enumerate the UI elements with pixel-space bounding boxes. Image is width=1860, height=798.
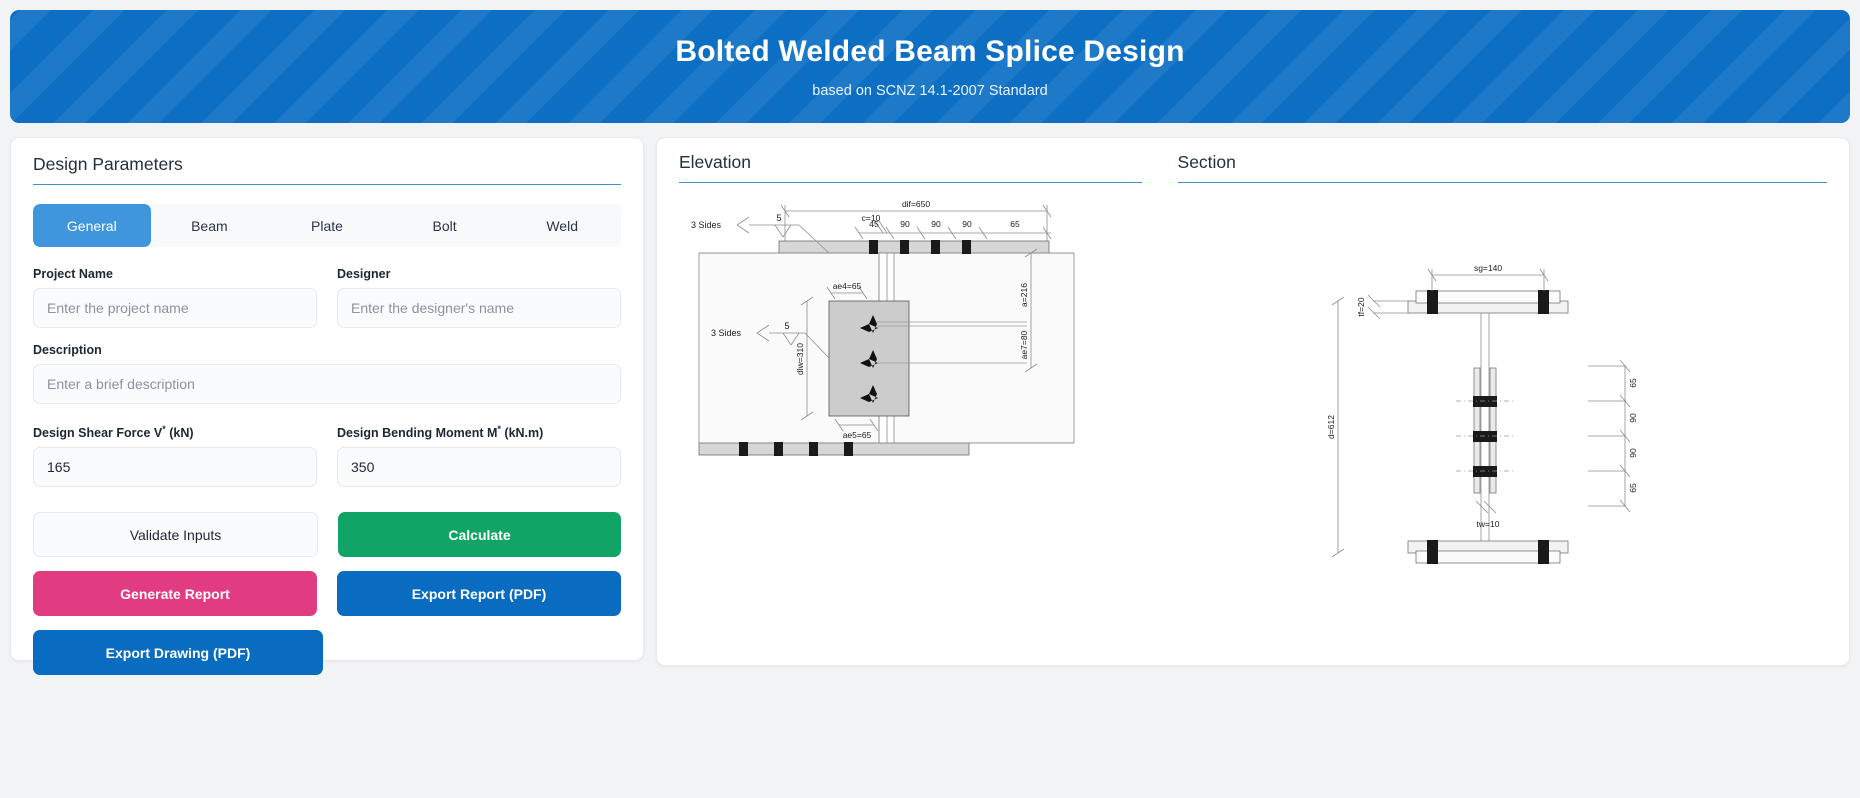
dim-ae4-label: ae4=65 <box>833 281 862 291</box>
dim-web-chain-4: 65 <box>1628 483 1638 493</box>
tab-general[interactable]: General <box>33 204 151 247</box>
validate-inputs-button[interactable]: Validate Inputs <box>33 512 318 557</box>
weld-mid-size-label: 5 <box>784 321 789 331</box>
dim-web-chain-1: 65 <box>1628 378 1638 388</box>
dim-web-chain-3: 90 <box>1628 448 1638 458</box>
app-root: Bolted Welded Beam Splice Design based o… <box>0 0 1860 798</box>
button-row-spacer <box>343 630 621 675</box>
primary-action-row: Validate Inputs Calculate <box>33 512 621 557</box>
generate-report-button[interactable]: Generate Report <box>33 571 317 616</box>
dim-pitch-5: 65 <box>1010 219 1020 229</box>
export-drawing-row: Export Drawing (PDF) <box>33 630 621 675</box>
designer-input[interactable] <box>337 288 621 328</box>
elevation-drawing: dif=650 c=10 <box>679 183 1119 603</box>
bending-moment-group: Design Bending Moment M* (kN.m) <box>337 424 621 487</box>
design-parameters-panel: Design Parameters General Beam Plate Bol… <box>10 137 644 661</box>
bending-moment-input[interactable] <box>337 447 621 487</box>
dim-dlw-label: dlw=310 <box>795 343 805 375</box>
elevation-title: Elevation <box>679 152 1142 182</box>
tab-bolt[interactable]: Bolt <box>386 204 504 247</box>
drawings-panel: Elevation <box>656 137 1850 666</box>
project-name-input[interactable] <box>33 288 317 328</box>
loads-row: Design Shear Force V* (kN) Design Bendin… <box>33 424 621 487</box>
shear-force-group: Design Shear Force V* (kN) <box>33 424 317 487</box>
bending-moment-label: Design Bending Moment M* (kN.m) <box>337 424 621 440</box>
project-designer-row: Project Name Designer <box>33 267 621 328</box>
page-subtitle: based on SCNZ 14.1-2007 Standard <box>812 83 1047 99</box>
dim-a-label: a=216 <box>1019 283 1029 307</box>
dim-pitch-3: 90 <box>931 219 941 229</box>
export-drawing-button[interactable]: Export Drawing (PDF) <box>33 630 323 675</box>
elevation-canvas: dif=650 c=10 <box>679 183 1142 613</box>
dim-sg-label: sg=140 <box>1473 263 1501 273</box>
weld-top-size-label: 5 <box>776 213 781 223</box>
project-name-group: Project Name <box>33 267 317 328</box>
dim-pitch-2: 90 <box>900 219 910 229</box>
dim-ae7-label: ae7=80 <box>1019 330 1029 359</box>
dim-ae5-label: ae5=65 <box>843 430 872 440</box>
section-drawing: sg=140 tf=20 <box>1178 183 1818 603</box>
elevation-view: Elevation <box>679 152 1142 613</box>
dim-pitch-4: 90 <box>962 219 972 229</box>
dim-dif-label: dif=650 <box>902 199 930 209</box>
tab-plate[interactable]: Plate <box>268 204 386 247</box>
section-canvas: sg=140 tf=20 <box>1178 183 1827 613</box>
weld-mid-sides-label: 3 Sides <box>711 328 742 338</box>
description-input[interactable] <box>33 364 621 404</box>
dim-tw-label: tw=10 <box>1476 519 1499 529</box>
section-view: Section <box>1178 152 1827 613</box>
title-divider <box>33 184 621 185</box>
description-label: Description <box>33 343 621 357</box>
tab-beam[interactable]: Beam <box>151 204 269 247</box>
weld-top-sides-label: 3 Sides <box>691 220 722 230</box>
dim-web-chain-2: 90 <box>1628 413 1638 423</box>
designer-group: Designer <box>337 267 621 328</box>
dim-pitch-1: 45 <box>869 219 879 229</box>
shear-force-label: Design Shear Force V* (kN) <box>33 424 317 440</box>
section-title: Section <box>1178 152 1827 182</box>
description-group: Description <box>33 343 621 404</box>
dim-d-label: d=612 <box>1326 415 1336 439</box>
shear-force-input[interactable] <box>33 447 317 487</box>
app-header: Bolted Welded Beam Splice Design based o… <box>10 10 1850 123</box>
export-report-button[interactable]: Export Report (PDF) <box>337 571 621 616</box>
report-action-row: Generate Report Export Report (PDF) <box>33 571 621 616</box>
tab-weld[interactable]: Weld <box>503 204 621 247</box>
project-name-label: Project Name <box>33 267 317 281</box>
parameter-tabs: General Beam Plate Bolt Weld <box>33 204 621 247</box>
designer-label: Designer <box>337 267 621 281</box>
design-parameters-title: Design Parameters <box>33 154 621 184</box>
page-title: Bolted Welded Beam Splice Design <box>675 35 1184 69</box>
calculate-button[interactable]: Calculate <box>338 512 621 557</box>
dim-tf-label: tf=20 <box>1356 297 1366 316</box>
